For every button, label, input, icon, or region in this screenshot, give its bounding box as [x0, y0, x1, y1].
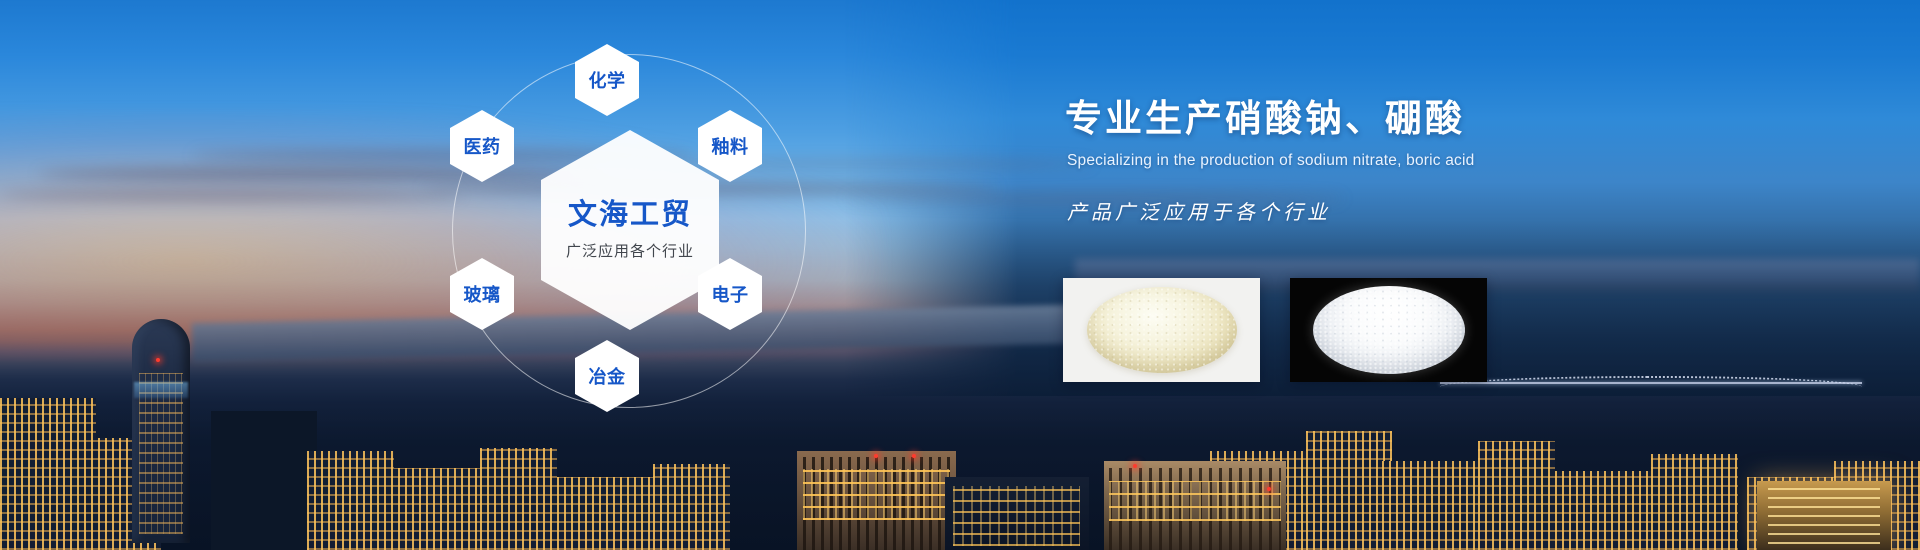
building-block: [0, 398, 96, 550]
building-block: [1555, 471, 1651, 550]
product-photo-boric-acid[interactable]: [1290, 278, 1487, 382]
building-block: [307, 451, 393, 550]
promo-banner: 化学 釉料 电子 冶金 玻璃 医药 文海工贸 广泛应用各个行业 专业生产硝酸钠、…: [0, 0, 1920, 550]
industry-hex-diagram: 化学 釉料 电子 冶金 玻璃 医药 文海工贸 广泛应用各个行业: [430, 10, 830, 450]
bridge-deck: [1440, 382, 1862, 384]
building-block: [480, 448, 557, 550]
tagline: 产品广泛应用于各个行业: [1067, 196, 1765, 225]
powder-pile: [1087, 287, 1237, 373]
aviation-light: [874, 454, 878, 458]
company-name: 文海工贸: [568, 199, 692, 232]
hex-label: 医药: [464, 133, 501, 159]
headline: 专业生产硝酸钠、硼酸: [1065, 96, 1765, 142]
hex-label: 化学: [589, 67, 626, 93]
aviation-light: [912, 454, 916, 458]
building-block: [1478, 441, 1555, 550]
suspension-bridge: [1440, 375, 1862, 388]
building-block: [211, 411, 317, 550]
foreground-building: [797, 451, 956, 550]
product-photo-sodium-nitrate[interactable]: [1063, 278, 1260, 382]
hex-label: 釉料: [712, 133, 749, 159]
company-tagline: 广泛应用各个行业: [566, 240, 694, 261]
hex-label: 冶金: [589, 363, 626, 389]
foreground-building: [1104, 461, 1286, 550]
tower-light-band: [134, 382, 188, 399]
hex-label: 电子: [712, 281, 749, 307]
building-block: [1651, 454, 1737, 550]
aviation-light: [1133, 464, 1137, 468]
hex-label: 玻璃: [464, 281, 501, 307]
product-photo-group: [1063, 278, 1487, 382]
building-block: [1306, 431, 1392, 550]
building-block: [557, 477, 653, 550]
building-block: [653, 464, 730, 550]
city-skyline: [0, 220, 1920, 550]
sub-headline: Specializing in the production of sodium…: [1067, 152, 1765, 170]
headline-block: 专业生产硝酸钠、硼酸 Specializing in the productio…: [1065, 96, 1765, 225]
cloud-streak: [0, 190, 461, 200]
building-block: [384, 468, 480, 550]
landmark-tower: [132, 319, 190, 543]
aviation-light: [1267, 487, 1271, 491]
aviation-light: [156, 358, 160, 362]
building-block: [1382, 461, 1478, 550]
foreground-building-lit: [1757, 481, 1891, 550]
powder-pile: [1313, 286, 1465, 374]
foreground-building: [945, 477, 1089, 550]
